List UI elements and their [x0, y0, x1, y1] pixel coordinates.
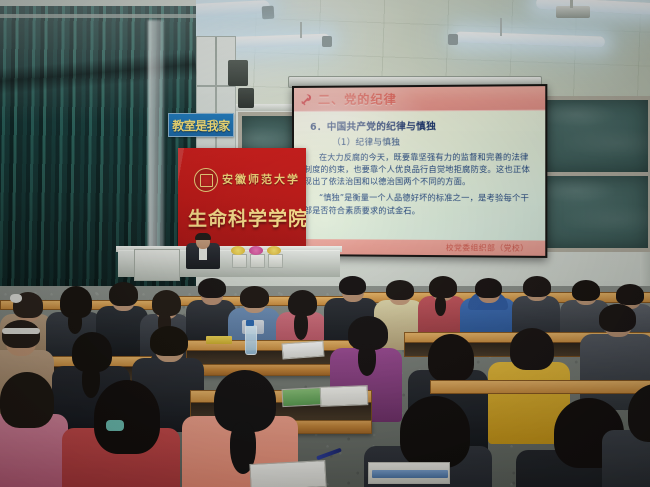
classroom-photo: 教室是我家 二、党的纪律 6．中国: [0, 0, 650, 487]
slide-header: 二、党的纪律: [294, 86, 545, 112]
slide-heading-main: 6．中国共产党的纪律与慎独: [310, 118, 537, 133]
wall-speaker-right: [238, 88, 254, 108]
ponytail: [68, 312, 82, 334]
presenter-hair: [195, 233, 211, 240]
curtain-daylight-gap: [148, 20, 164, 270]
hair: [475, 278, 502, 298]
hair: [616, 284, 644, 305]
tube-light-2-rod: [300, 22, 302, 38]
banner-fabric-fold: [178, 148, 306, 246]
tube-light-1-cap: [262, 6, 275, 20]
hair: [386, 280, 414, 300]
hair: [94, 380, 160, 454]
flower-pot-1-bloom: [231, 246, 245, 255]
curtain-rod: [0, 14, 196, 18]
chalk-dust-lower: [544, 176, 648, 248]
hair: [109, 282, 138, 306]
lecture-podium: [134, 249, 180, 281]
banner-university-name: 安徽师范大学: [222, 171, 300, 187]
flower-pot-3-bloom: [267, 246, 281, 255]
notebook-open-front: [249, 460, 326, 487]
hair-cap: [339, 276, 366, 295]
water-bottle-cap: [246, 320, 254, 326]
slide-heading-sub: （1）纪律与慎独: [332, 135, 537, 148]
chalkboard-right-upper: [540, 96, 650, 176]
banner-department-name: 生命科学学院党校: [188, 204, 306, 231]
ponytail: [294, 312, 308, 340]
open-textbook: [320, 385, 369, 407]
hair: [599, 304, 636, 332]
loose-paper-1: [281, 341, 324, 360]
hair: [240, 286, 269, 308]
headband: [2, 328, 40, 334]
slide-footer-text: 校党委组织部（党校）: [446, 242, 529, 254]
projection-screen: 二、党的纪律 6．中国共产党的纪律与慎独 （1）纪律与慎独 在大力反腐的今天，既…: [292, 84, 547, 258]
wall-sign-classroom-motto: 教室是我家: [168, 113, 234, 137]
desk-row3-right: [430, 380, 650, 394]
flower-pot-2-pot: [250, 254, 265, 268]
slide-paragraph-1: 在大力反腐的今天，既要靠坚强有力的监督和完善的法律制度的约束，也要靠个人优良品行…: [304, 152, 537, 189]
hair-bun: [10, 294, 22, 303]
desk-row2-mid-front: [186, 364, 354, 376]
ponytail: [435, 296, 446, 316]
red-banner: 安徽师范大学 生命科学学院党校: [178, 148, 306, 246]
wall-speaker-left: [228, 60, 248, 86]
slide-paragraph-2: “慎独”是衡量一个人品德好坏的标准之一，是考验每个干部是否符合素质要求的试金石。: [304, 192, 537, 217]
hair: [428, 334, 474, 382]
ponytail: [358, 344, 376, 376]
projector-mount: [570, 0, 573, 8]
flower-pot-1: [232, 254, 247, 268]
ceiling-projector: [556, 6, 590, 18]
presenter-shirt: [199, 248, 207, 260]
tube-light-3-cap: [448, 34, 458, 45]
slide-header-title: 二、党的纪律: [318, 90, 397, 108]
water-bottle: [245, 325, 257, 355]
textbook-yellow: [206, 336, 232, 344]
hair: [523, 276, 551, 297]
hair: [572, 280, 600, 301]
hair: [510, 328, 554, 370]
ponytail: [82, 364, 100, 398]
chalkboard-right-lower: [540, 172, 650, 252]
hair: [400, 396, 470, 468]
party-emblem-icon: [299, 92, 314, 107]
hair: [2, 320, 40, 348]
flower-pot-1-pot: [232, 254, 247, 268]
hair-clip: [106, 420, 124, 431]
chalk-dust-upper: [544, 100, 648, 172]
slide: 二、党的纪律 6．中国共产党的纪律与慎独 （1）纪律与慎独 在大力反腐的今天，既…: [294, 86, 545, 256]
flower-pot-2: [250, 254, 265, 268]
tube-light-2-cap: [322, 36, 332, 47]
hair: [0, 372, 54, 428]
flower-pot-2-bloom: [249, 246, 263, 255]
tube-light-3-rod: [500, 18, 502, 36]
wall-sign-text: 教室是我家: [172, 117, 230, 134]
university-logo-icon: [194, 168, 218, 192]
hair: [429, 276, 457, 298]
flower-pot-3: [268, 254, 283, 268]
hair: [150, 326, 188, 356]
slide-body: 6．中国共产党的纪律与慎独 （1）纪律与慎独 在大力反腐的今天，既要靠坚强有力的…: [294, 111, 545, 241]
hair-cap: [198, 278, 226, 298]
book-blue-front: [372, 470, 448, 478]
flower-pot-3-pot: [268, 254, 283, 268]
